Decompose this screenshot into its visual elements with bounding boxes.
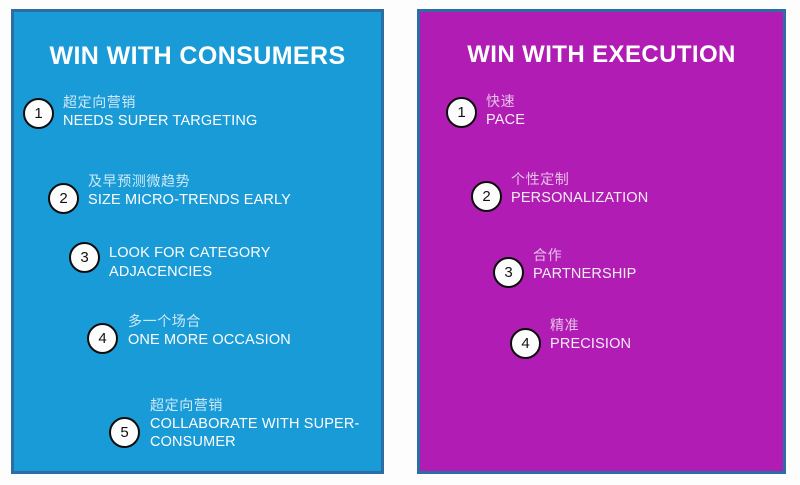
item-number-badge: 3 bbox=[493, 257, 524, 288]
item-label-chinese: 个性定制 bbox=[511, 171, 648, 189]
item-labels: 合作 PARTNERSHIP bbox=[533, 247, 636, 283]
list-item[interactable]: 2 及早预测微趋势 SIZE MICRO-TRENDS EARLY bbox=[48, 173, 291, 214]
panel-title-execution: WIN WITH EXECUTION bbox=[420, 42, 783, 67]
item-labels: 及早预测微趋势 SIZE MICRO-TRENDS EARLY bbox=[88, 173, 291, 209]
item-label-english: SIZE MICRO-TRENDS EARLY bbox=[88, 191, 291, 210]
panel-win-with-consumers: WIN WITH CONSUMERS 1 超定向营销 NEEDS SUPER T… bbox=[11, 9, 384, 474]
list-item[interactable]: 3 LOOK FOR CATEGORY ADJACENCIES bbox=[69, 240, 271, 281]
item-label-chinese: 超定向营销 bbox=[63, 94, 257, 112]
list-item[interactable]: 1 超定向营销 NEEDS SUPER TARGETING bbox=[23, 94, 257, 130]
panel-title-consumers: WIN WITH CONSUMERS bbox=[14, 43, 381, 69]
item-label-chinese: 超定向营销 bbox=[150, 397, 359, 415]
item-label-chinese: 合作 bbox=[533, 247, 636, 265]
item-label-chinese: 快速 bbox=[486, 93, 525, 111]
list-item[interactable]: 1 快速 PACE bbox=[446, 93, 525, 129]
list-item[interactable]: 5 超定向营销 COLLABORATE WITH SUPER- CONSUMER bbox=[109, 397, 359, 452]
item-label-english: PACE bbox=[486, 111, 525, 130]
item-number-badge: 2 bbox=[48, 183, 79, 214]
item-label-chinese: 及早预测微趋势 bbox=[88, 173, 291, 191]
item-number-badge: 1 bbox=[23, 98, 54, 129]
panel-win-with-execution: WIN WITH EXECUTION 1 快速 PACE 2 个性定制 PERS… bbox=[417, 9, 786, 474]
item-number-badge: 5 bbox=[109, 417, 140, 448]
item-labels: 超定向营销 COLLABORATE WITH SUPER- CONSUMER bbox=[150, 397, 359, 452]
item-labels: 快速 PACE bbox=[486, 93, 525, 129]
item-label-chinese: 多一个场合 bbox=[128, 313, 291, 331]
item-label-english: COLLABORATE WITH SUPER- CONSUMER bbox=[150, 415, 359, 452]
item-labels: 超定向营销 NEEDS SUPER TARGETING bbox=[63, 94, 257, 130]
item-label-english: LOOK FOR CATEGORY ADJACENCIES bbox=[109, 244, 271, 281]
item-label-chinese: 精准 bbox=[550, 317, 631, 335]
item-number-badge: 4 bbox=[510, 328, 541, 359]
item-labels: 多一个场合 ONE MORE OCCASION bbox=[128, 313, 291, 349]
item-number-badge: 2 bbox=[471, 181, 502, 212]
item-labels: LOOK FOR CATEGORY ADJACENCIES bbox=[109, 240, 271, 281]
list-item[interactable]: 4 多一个场合 ONE MORE OCCASION bbox=[87, 313, 291, 354]
item-label-english: PARTNERSHIP bbox=[533, 265, 636, 284]
item-number-badge: 4 bbox=[87, 323, 118, 354]
slide-canvas: WIN WITH CONSUMERS 1 超定向营销 NEEDS SUPER T… bbox=[0, 0, 800, 485]
item-labels: 个性定制 PERSONALIZATION bbox=[511, 171, 648, 207]
item-labels: 精准 PRECISION bbox=[550, 317, 631, 353]
item-label-english: NEEDS SUPER TARGETING bbox=[63, 112, 257, 131]
item-number-badge: 1 bbox=[446, 97, 477, 128]
item-number-badge: 3 bbox=[69, 242, 100, 273]
item-label-english: PRECISION bbox=[550, 335, 631, 354]
list-item[interactable]: 3 合作 PARTNERSHIP bbox=[493, 247, 636, 288]
item-label-english: PERSONALIZATION bbox=[511, 189, 648, 208]
list-item[interactable]: 2 个性定制 PERSONALIZATION bbox=[471, 171, 648, 212]
list-item[interactable]: 4 精准 PRECISION bbox=[510, 317, 631, 359]
item-label-english: ONE MORE OCCASION bbox=[128, 331, 291, 350]
